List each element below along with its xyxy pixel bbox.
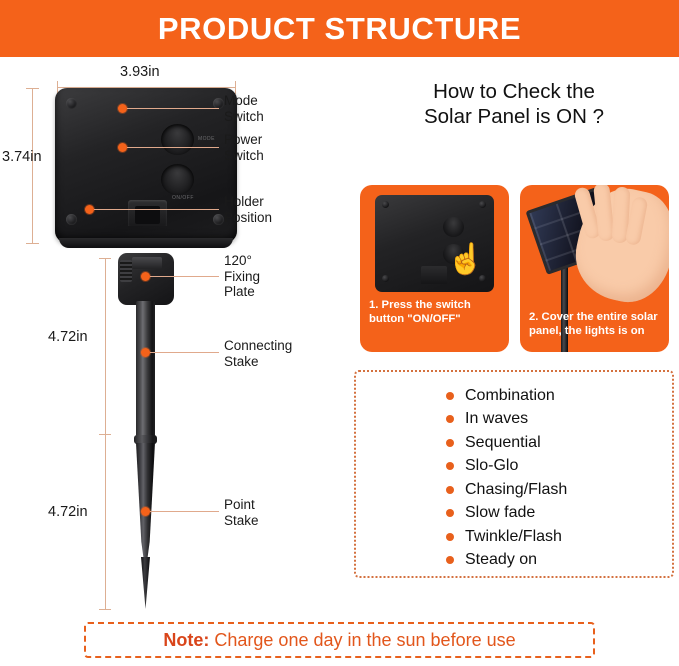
lighting-modes-list: Combination In waves Sequential Slo-Glo … — [446, 384, 567, 572]
bullet-icon — [446, 556, 454, 564]
list-item: Combination — [446, 384, 567, 408]
orange-dot-icon — [85, 205, 94, 214]
page-title: PRODUCT STRUCTURE — [158, 11, 521, 47]
list-item: Twinkle/Flash — [446, 525, 567, 549]
holder-position-slot — [421, 266, 447, 284]
note-text: Note: Charge one day in the sun before u… — [163, 630, 515, 651]
mode-label: Sequential — [465, 434, 541, 452]
mode-label: In waves — [465, 410, 528, 428]
stake-dimension-cap-top — [99, 258, 111, 259]
howto-section: How to Check the Solar Panel is ON ? ☝ 1… — [349, 57, 679, 609]
callout-label: Holder Position — [224, 194, 272, 225]
step-card-cover-panel: 2. Cover the entire solar panel, the lig… — [520, 185, 669, 352]
screw-icon — [479, 275, 486, 282]
bullet-icon — [446, 509, 454, 517]
list-item: In waves — [446, 408, 567, 432]
leader-line — [150, 352, 219, 353]
mode-label: Slow fade — [465, 504, 535, 522]
callout-label: Mode Switch — [224, 93, 264, 124]
bullet-icon — [446, 486, 454, 494]
mode-label: Chasing/Flash — [465, 481, 567, 499]
point-stake-length-label: 4.72in — [48, 504, 88, 520]
step-caption: 1. Press the switch button "ON/OFF" — [369, 299, 503, 326]
solar-panel-back-mini-illustration: ☝ — [375, 195, 494, 292]
step-card-press-switch: ☝ 1. Press the switch button "ON/OFF" — [360, 185, 509, 352]
leader-line — [127, 108, 219, 109]
holder-position-slot — [128, 200, 167, 226]
leader-line — [94, 209, 219, 210]
power-switch-well — [161, 164, 194, 195]
mode-label: Twinkle/Flash — [465, 528, 562, 546]
leader-line — [127, 147, 219, 148]
panel-height-label: 3.74in — [2, 149, 42, 165]
list-item: Slow fade — [446, 502, 567, 526]
list-item: Sequential — [446, 431, 567, 455]
screw-icon — [479, 201, 486, 208]
mode-label: Combination — [465, 387, 555, 405]
bullet-icon — [446, 462, 454, 470]
screw-icon — [382, 201, 389, 208]
callout-label: Connecting Stake — [224, 338, 292, 369]
bullet-icon — [446, 415, 454, 423]
callout-label: Power Switch — [224, 132, 264, 163]
screw-icon — [66, 214, 77, 225]
product-structure-infographic: PRODUCT STRUCTURE 3.93in 3.74in 4.72in 4… — [0, 0, 679, 666]
orange-dot-icon — [118, 143, 127, 152]
note-banner: Note: Charge one day in the sun before u… — [84, 622, 595, 658]
height-dimension-cap-top — [26, 88, 39, 89]
mode-switch-well — [443, 217, 464, 237]
step-caption: 2. Cover the entire solar panel, the lig… — [529, 311, 663, 338]
height-dimension-line — [32, 88, 33, 244]
stake-tip — [141, 557, 150, 609]
stake-dimension-cap-bottom — [99, 609, 111, 610]
bullet-icon — [446, 439, 454, 447]
mode-switch-tick-label: MODE — [198, 136, 215, 142]
panel-width-label: 3.93in — [120, 64, 160, 80]
stake-collar — [134, 435, 157, 444]
callout-label: Point Stake — [224, 497, 259, 528]
mode-switch-well — [161, 124, 194, 155]
power-switch-tick-label: ON/OFF — [172, 195, 194, 201]
orange-dot-icon — [141, 507, 150, 516]
orange-dot-icon — [118, 104, 127, 113]
list-item: Chasing/Flash — [446, 478, 567, 502]
bullet-icon — [446, 533, 454, 541]
note-body: Charge one day in the sun before use — [209, 630, 515, 650]
header-banner: PRODUCT STRUCTURE — [0, 0, 679, 57]
screw-icon — [382, 275, 389, 282]
mode-label: Steady on — [465, 551, 537, 569]
bullet-icon — [446, 392, 454, 400]
leader-line — [150, 511, 219, 512]
connecting-stake-illustration — [136, 301, 155, 437]
solar-panel-back-illustration: MODE ON/OFF — [55, 88, 237, 243]
list-item: Steady on — [446, 549, 567, 573]
list-item: Slo-Glo — [446, 455, 567, 479]
dimension-diagram: 3.93in 3.74in 4.72in 4.72in MODE ON/OFF — [0, 57, 345, 609]
stake-dimension-cap-mid — [99, 434, 111, 435]
note-prefix: Note: — [163, 630, 209, 650]
fixing-plate-top — [132, 257, 162, 269]
screw-icon — [213, 214, 224, 225]
pressing-hand-icon: ☝ — [447, 245, 484, 275]
callout-label: 120° Fixing Plate — [224, 253, 260, 300]
leader-line — [150, 276, 219, 277]
orange-dot-icon — [141, 348, 150, 357]
fixing-plate-ridges-icon — [120, 260, 132, 282]
orange-dot-icon — [141, 272, 150, 281]
mode-label: Slo-Glo — [465, 457, 518, 475]
connecting-stake-length-label: 4.72in — [48, 329, 88, 345]
howto-title: How to Check the Solar Panel is ON ? — [349, 79, 679, 129]
lighting-modes-box: Combination In waves Sequential Slo-Glo … — [354, 370, 674, 578]
height-dimension-cap-bottom — [26, 243, 39, 244]
screw-icon — [66, 98, 77, 109]
